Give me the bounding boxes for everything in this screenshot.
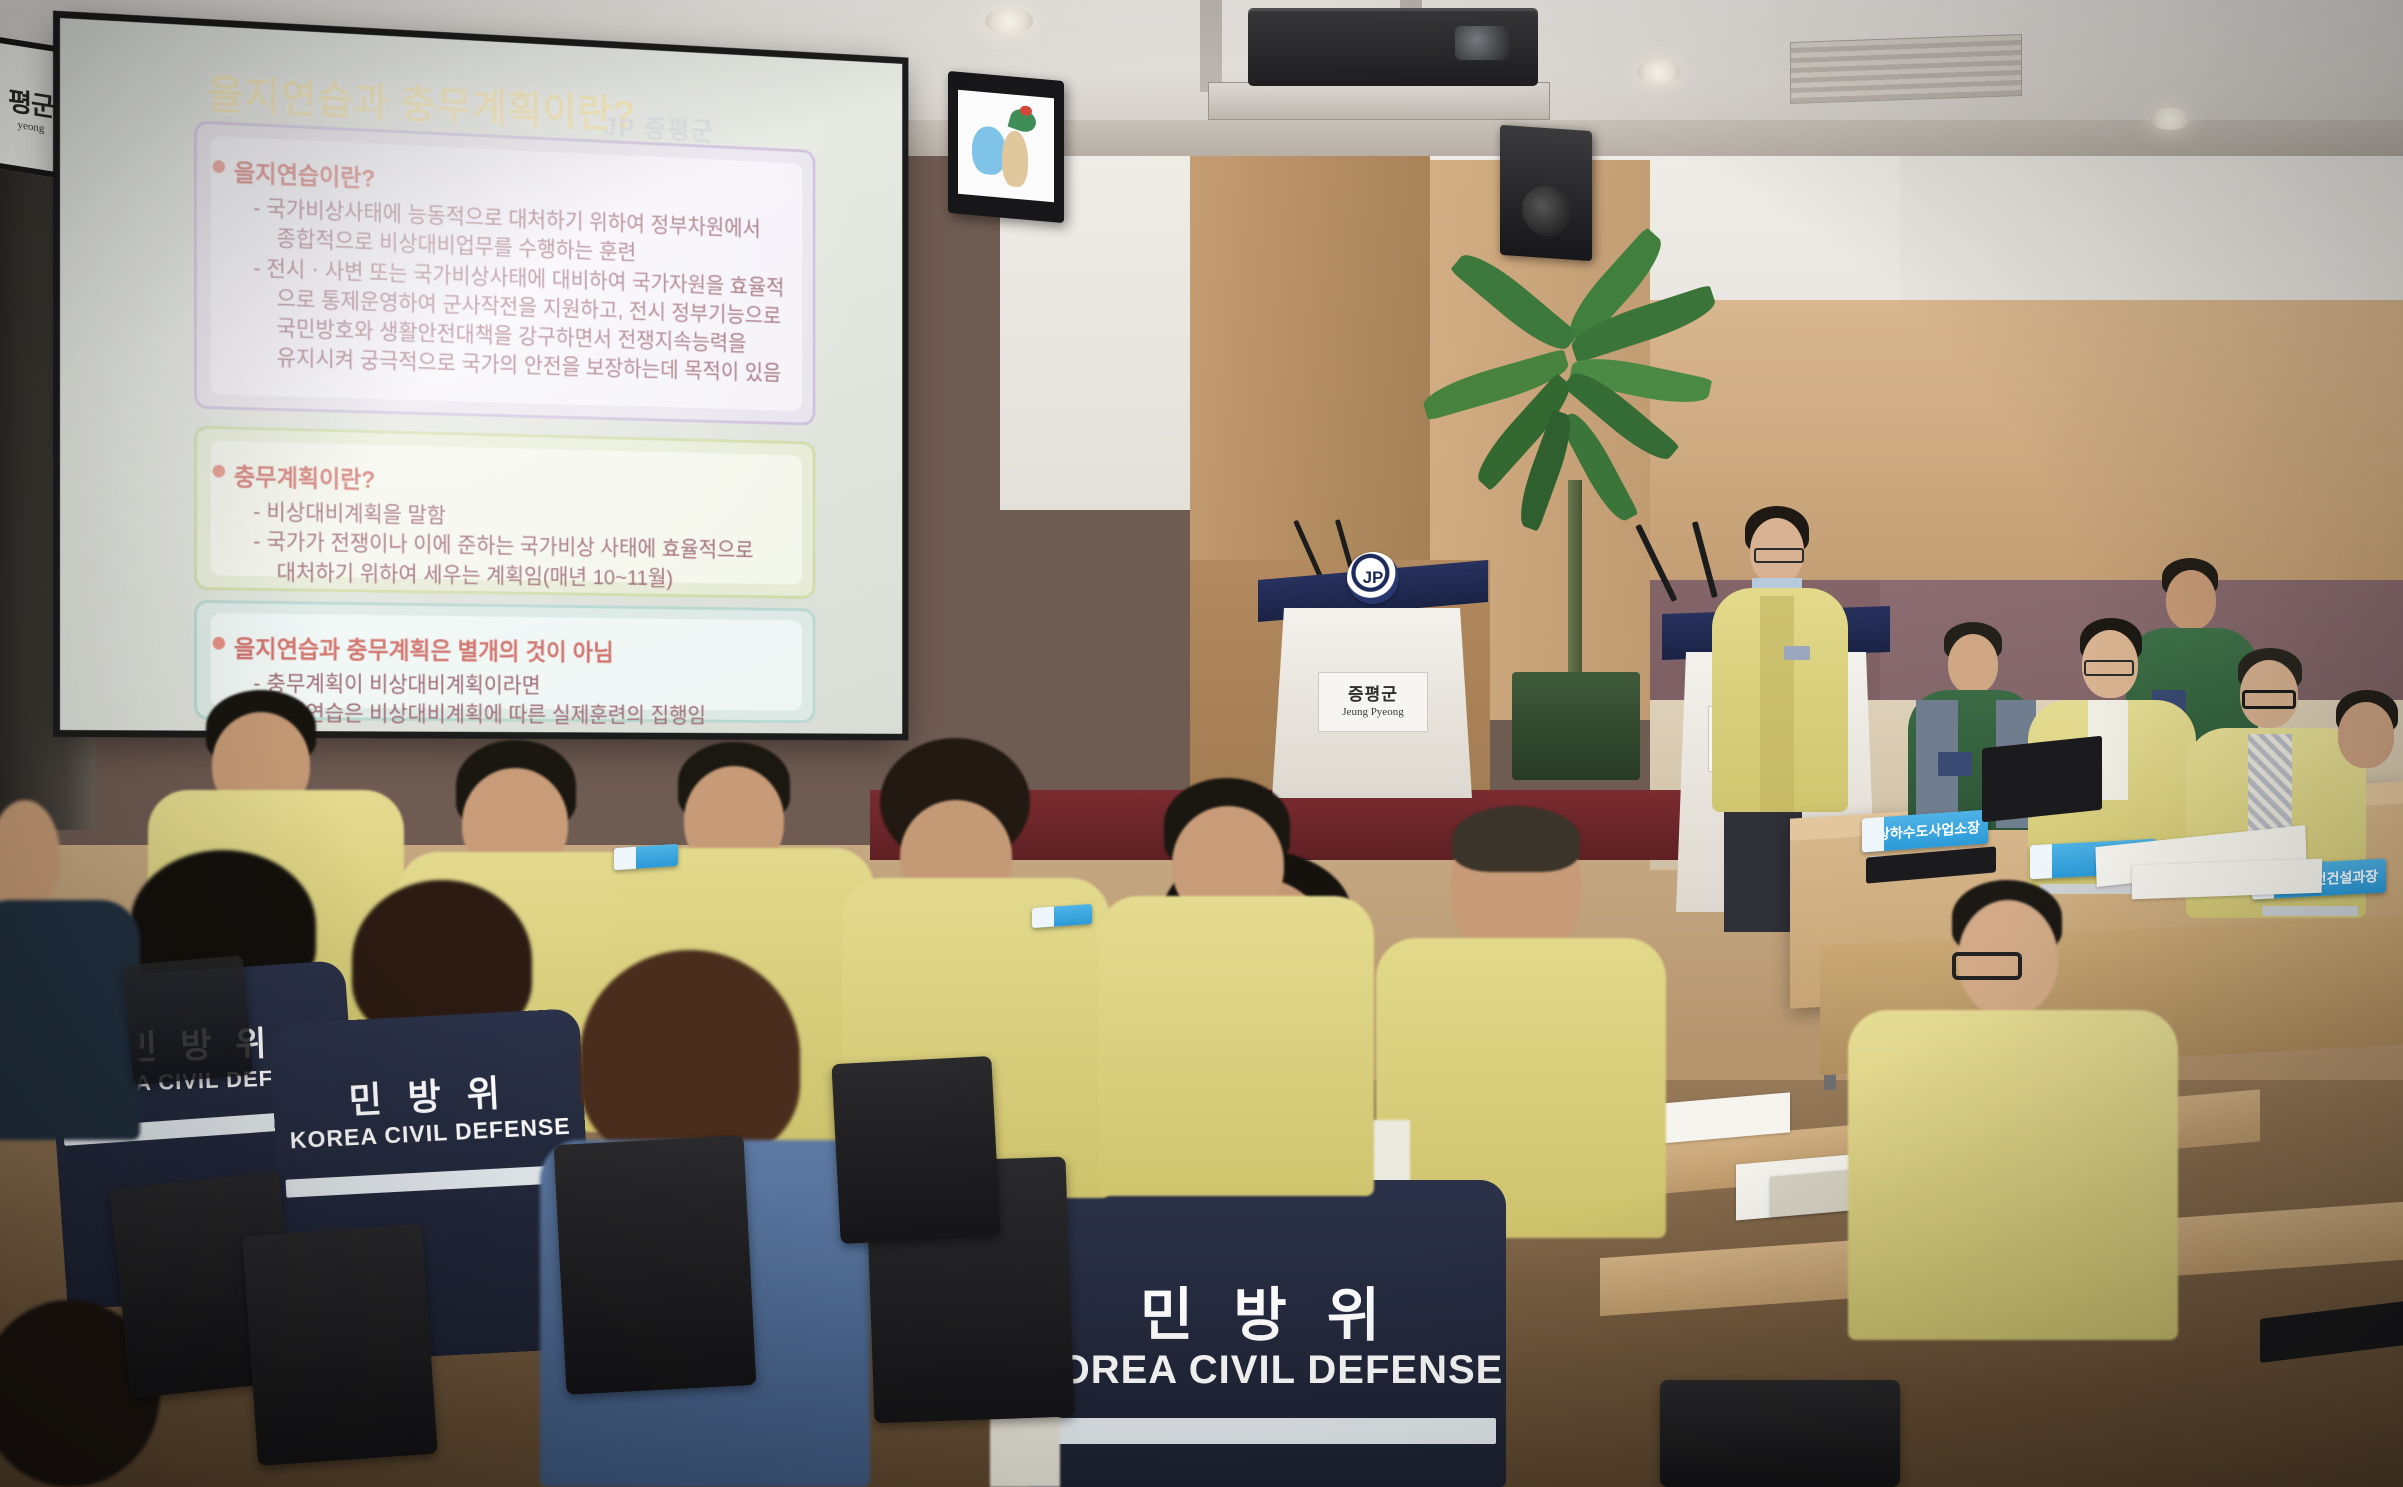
vest-reflective-stripe xyxy=(1036,1418,1496,1444)
official-head xyxy=(2338,702,2394,768)
speaker-cone xyxy=(1522,184,1572,237)
wall-speaker-icon xyxy=(1500,125,1592,261)
chair xyxy=(242,1224,438,1466)
laptop-icon xyxy=(1982,736,2102,823)
desk-nameplate xyxy=(614,844,678,870)
nameplate-stand xyxy=(2040,884,2136,894)
side-podium-korean: 증평군 xyxy=(1348,686,1398,703)
attendee-uniform xyxy=(1098,896,1374,1196)
mascot-tan-character xyxy=(1002,130,1028,188)
glasses-icon xyxy=(1952,952,2022,980)
official-check-shirt xyxy=(2248,734,2292,832)
screen-glare xyxy=(60,18,902,734)
mascot-berry-icon xyxy=(1020,105,1032,116)
vest-korean-text: 민 방 위 xyxy=(1026,1268,1506,1352)
desk-nameplate xyxy=(1032,904,1092,928)
attendee-top xyxy=(0,900,140,1140)
projector-lens xyxy=(1455,26,1509,60)
ceiling-light xyxy=(2150,108,2190,130)
monitor-screen xyxy=(958,90,1054,202)
document-paper xyxy=(2132,859,2323,900)
logo-text: JP xyxy=(1363,568,1384,588)
wall-monitor xyxy=(948,71,1064,223)
official-head xyxy=(1948,634,1998,694)
chair xyxy=(554,1135,757,1395)
nameplate-label: 상하수도사업소장 xyxy=(1877,817,1980,844)
ceiling-light xyxy=(1637,60,1681,84)
chair xyxy=(123,955,253,1085)
projector-mount-plate xyxy=(1208,82,1550,120)
hvac-vent xyxy=(1790,34,2022,104)
glasses-icon xyxy=(2084,660,2134,676)
projection-screen: 을지연습과 충무계획이란? JP 증평군 을지연습이란? - 국가비상사태에 능… xyxy=(60,18,902,734)
side-podium-plate: 증평군 Jeung Pyeong xyxy=(1318,672,1428,732)
attendee-hair xyxy=(1452,806,1580,872)
projector-mount-rod xyxy=(1200,0,1222,92)
attendee-uniform xyxy=(1848,1010,2178,1340)
official-head xyxy=(2166,570,2216,630)
side-podium-english: Jeung Pyeong xyxy=(1342,706,1403,718)
conference-hall-photo: 평군 yeong 을지연습과 충무계획이란? JP 증평군 을지연습이란? - … xyxy=(0,0,2403,1487)
vest-patch xyxy=(1938,752,1972,776)
mascot-blue-character xyxy=(972,125,1006,176)
civil-defense-vest: 민 방 위 KOREA CIVIL DEFENSE xyxy=(1026,1180,1506,1487)
glasses-icon xyxy=(2242,690,2296,709)
chair xyxy=(1660,1380,1900,1487)
nameplate-stand xyxy=(2262,906,2358,916)
presenter-badge xyxy=(1784,646,1810,660)
vest-reflective-stripe xyxy=(285,1164,580,1197)
attendee-hair xyxy=(580,950,800,1160)
plant-trunk xyxy=(1568,480,1582,680)
plant-pot xyxy=(1512,672,1640,780)
wall-sign-korean: 평군 xyxy=(8,80,54,124)
wall-sign-jeungpyeong: 평군 yeong xyxy=(0,36,68,180)
jeungpyeong-logo-icon: JP xyxy=(1347,552,1399,604)
vest-english-text: KOREA CIVIL DEFENSE xyxy=(1026,1348,1506,1393)
chair xyxy=(831,1056,1000,1244)
ceiling-light xyxy=(985,8,1033,34)
glasses-icon xyxy=(1754,548,1804,563)
presenter-uniform-seam xyxy=(1760,596,1794,812)
